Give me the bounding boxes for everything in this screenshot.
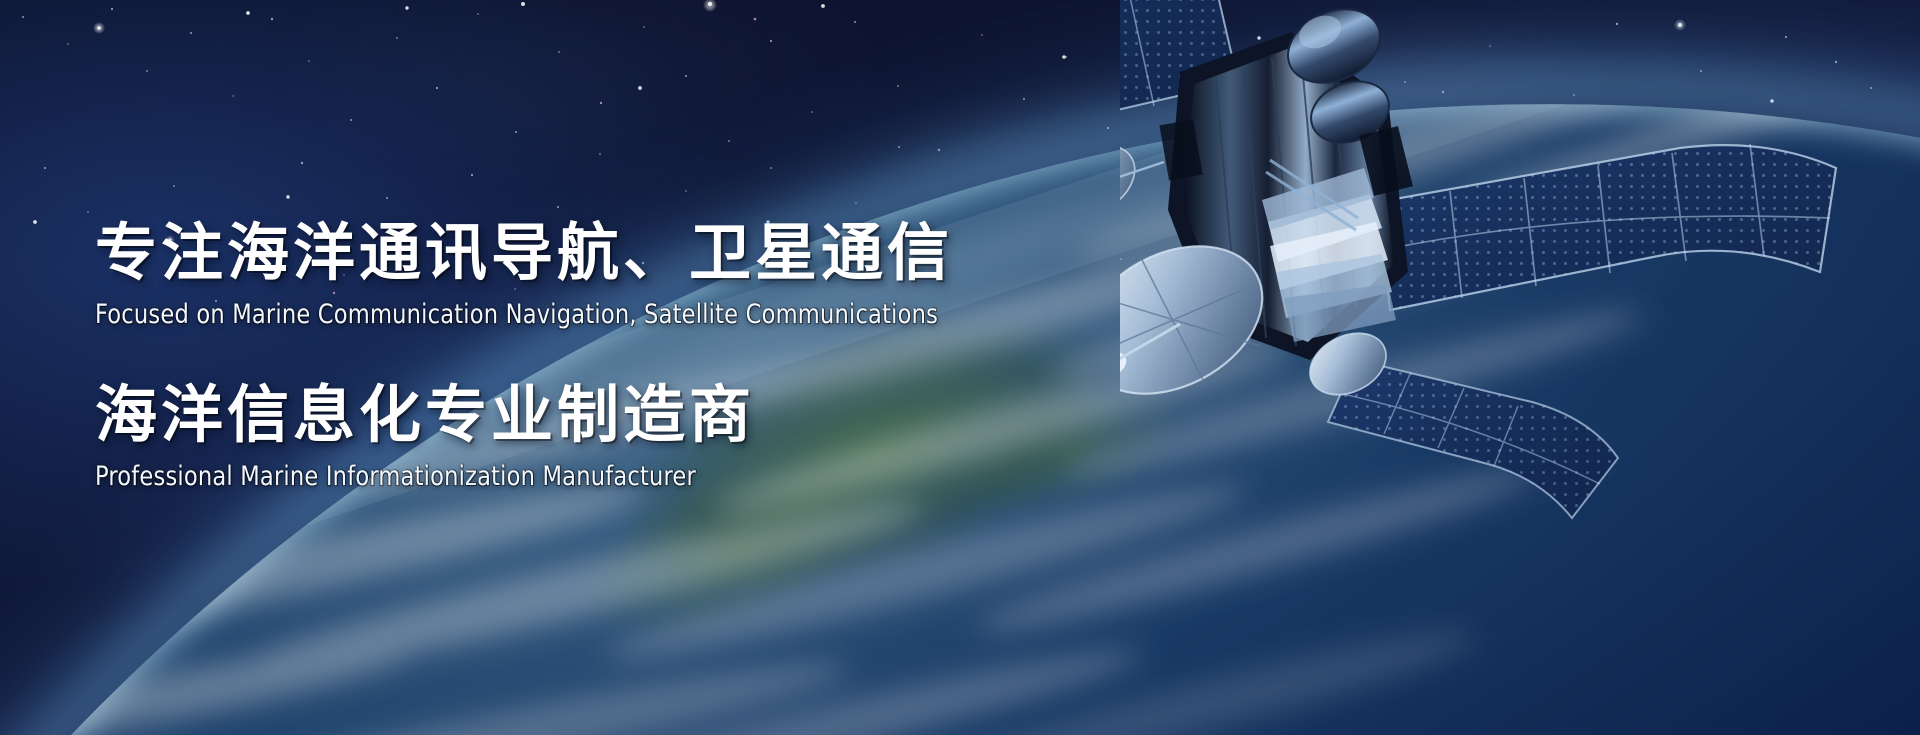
solar-panel-right — [1378, 144, 1836, 310]
headline-secondary-cn: 海洋信息化专业制造商 — [95, 384, 1195, 446]
headline-primary-cn: 专注海洋通讯导航、卫星通信 — [95, 222, 1195, 284]
headline-primary-en: Focused on Marine Communication Navigati… — [95, 301, 1118, 328]
headline-copy-block: 专注海洋通讯导航、卫星通信 Focused on Marine Communic… — [95, 222, 1195, 490]
headline-secondary-en: Professional Marine Informationization M… — [95, 463, 1118, 490]
communications-satellite — [1120, 0, 1920, 532]
hero-banner: 专注海洋通讯导航、卫星通信 Focused on Marine Communic… — [0, 0, 1920, 735]
dish-antenna-small — [1120, 132, 1164, 229]
solar-panel-lower-right — [1328, 360, 1618, 518]
headline-spacer — [95, 328, 1195, 384]
